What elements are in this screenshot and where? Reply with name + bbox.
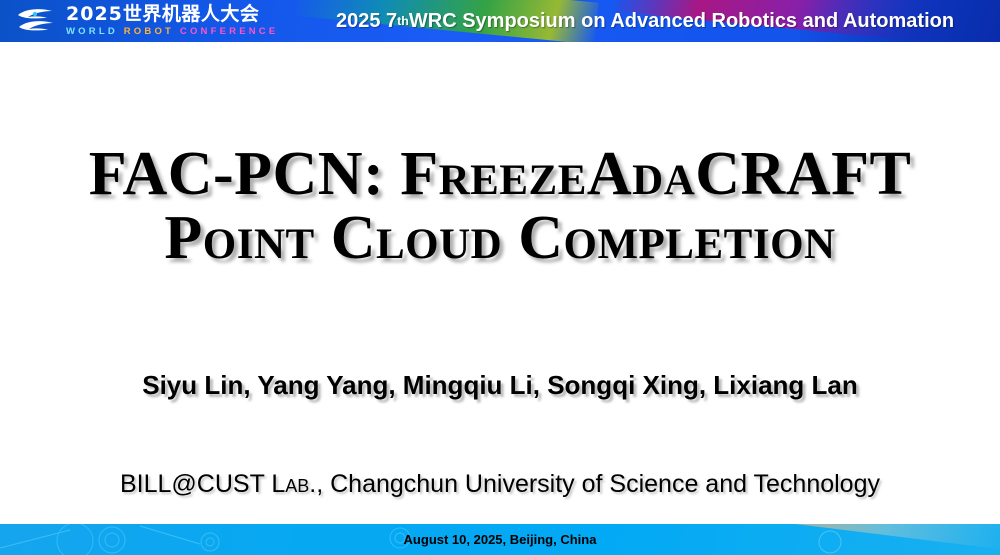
presentation-slide: 2025世界机器人大会 WORLD ROBOT CONFERENCE 2025 … bbox=[0, 0, 1000, 555]
wrc-logo-word-world: WORLD bbox=[66, 26, 118, 37]
wrc-logo-chinese-name: 世界机器人大会 bbox=[123, 3, 260, 25]
wrc-logo-word-robot: ROBOT bbox=[124, 26, 174, 37]
slide-footer: August 10, 2025, Beijing, China bbox=[0, 524, 1000, 555]
footer-event-info: August 10, 2025, Beijing, China bbox=[0, 524, 1000, 555]
affiliation-lab-smallcaps: Lab. bbox=[271, 470, 316, 498]
affiliation-institution: , Changchun University of Science and Te… bbox=[316, 470, 880, 498]
paper-title-line-2: Point Cloud Completion bbox=[0, 206, 1000, 270]
conference-header-banner: 2025世界机器人大会 WORLD ROBOT CONFERENCE 2025 … bbox=[0, 0, 1000, 42]
wrc-logo-chinese: 2025世界机器人大会 bbox=[66, 5, 278, 24]
wrc-logo: 2025世界机器人大会 WORLD ROBOT CONFERENCE bbox=[14, 0, 278, 42]
wrc-logo-word-conference: CONFERENCE bbox=[180, 26, 279, 37]
wrc-logo-year: 2025 bbox=[66, 3, 123, 25]
slide-body: FAC-PCN: FreezeAdaCRAFT Point Cloud Comp… bbox=[0, 42, 1000, 524]
affiliation-lab-prefix: BILL@CUST bbox=[120, 470, 271, 498]
wrc-swoosh-logo-icon bbox=[14, 6, 58, 36]
paper-title: FAC-PCN: FreezeAdaCRAFT Point Cloud Comp… bbox=[0, 142, 1000, 270]
symposium-title-prefix: 2025 7 bbox=[336, 10, 397, 33]
affiliation-line: BILL@CUST Lab., Changchun University of … bbox=[0, 470, 1000, 499]
symposium-title-suffix: WRC Symposium on Advanced Robotics and A… bbox=[409, 10, 954, 33]
paper-title-line-1: FAC-PCN: FreezeAdaCRAFT bbox=[0, 142, 1000, 206]
symposium-title: 2025 7th WRC Symposium on Advanced Robot… bbox=[336, 0, 954, 42]
author-list: Siyu Lin, Yang Yang, Mingqiu Li, Songqi … bbox=[0, 370, 1000, 401]
wrc-logo-text: 2025世界机器人大会 WORLD ROBOT CONFERENCE bbox=[66, 5, 278, 37]
wrc-logo-english: WORLD ROBOT CONFERENCE bbox=[66, 27, 278, 37]
